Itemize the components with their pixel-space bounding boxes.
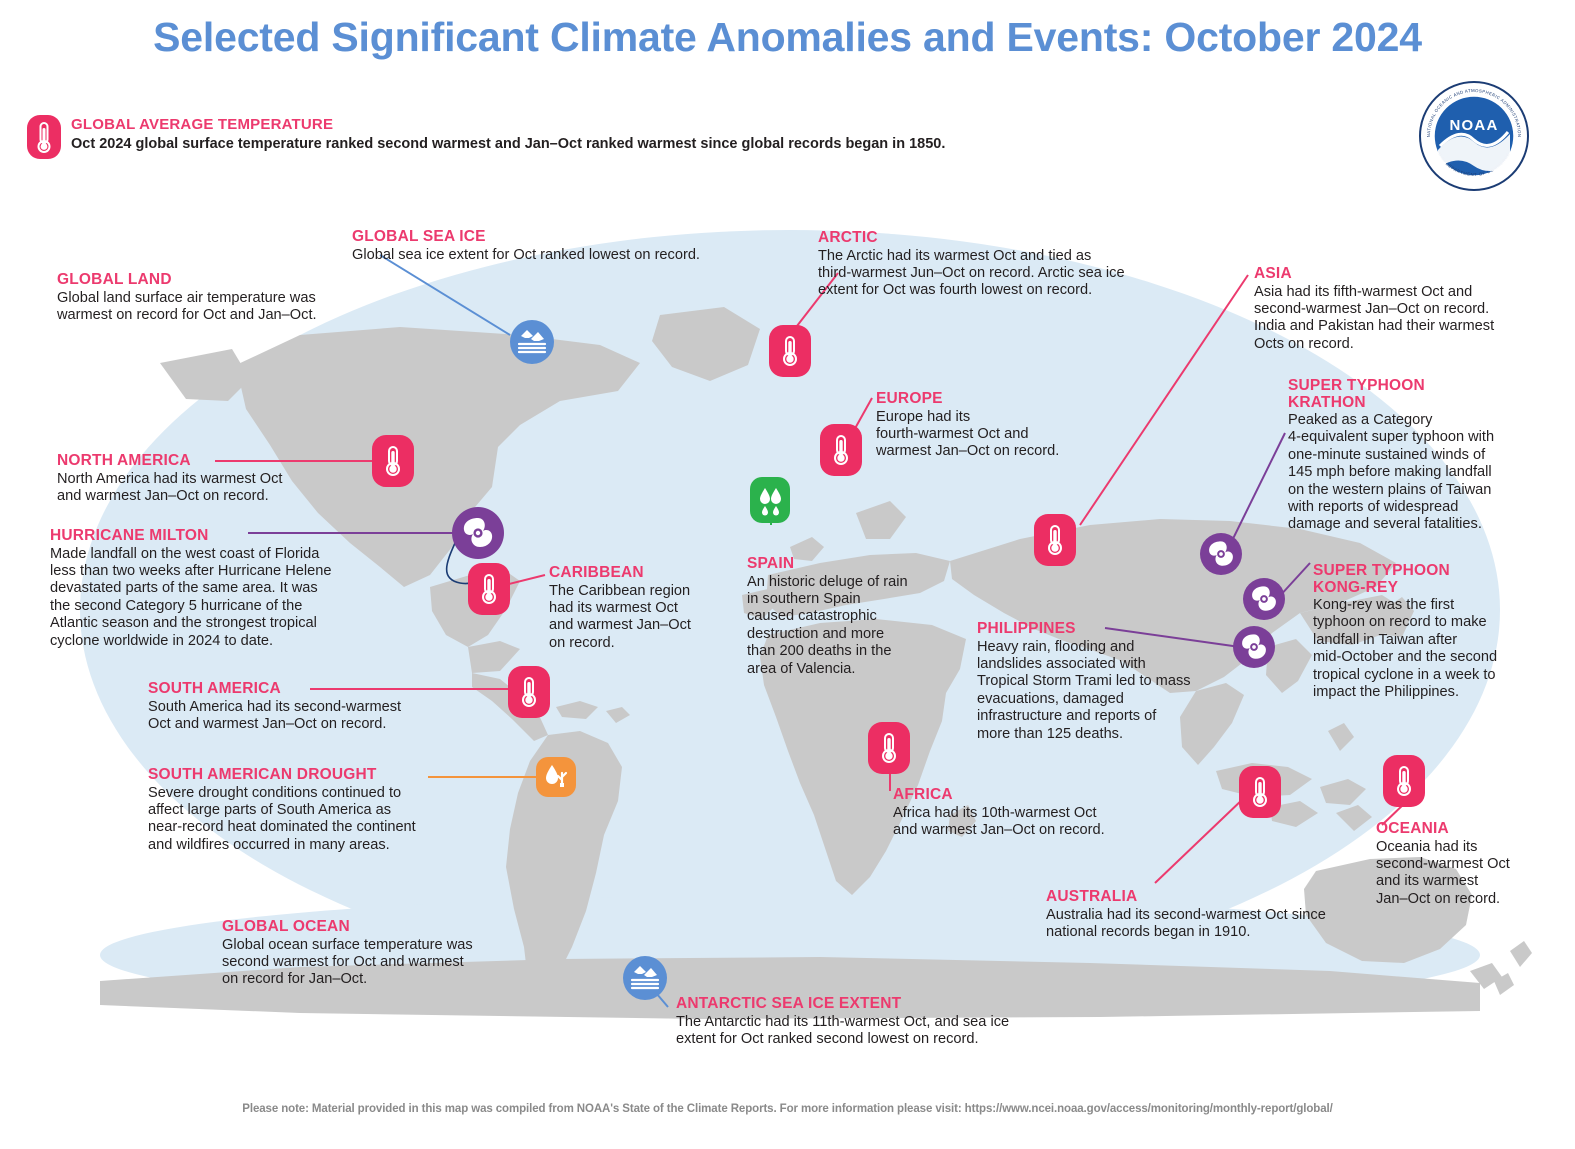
callout-heading: ASIA — [1254, 265, 1544, 283]
thermometer-icon — [777, 334, 803, 368]
callout-body: Oceania had its second-warmest Oct and i… — [1376, 839, 1556, 909]
callout-body: Peaked as a Category 4-equivalent super … — [1288, 412, 1553, 534]
callout-heading: SPAIN — [747, 555, 932, 573]
callout-heading: ARCTIC — [818, 229, 1188, 247]
callout-body: Kong-rey was the first typhoon on record… — [1313, 597, 1548, 701]
callout-heading: OCEANIA — [1376, 820, 1556, 838]
sea-ice-icon — [517, 327, 547, 357]
marker-hurricane-milton[interactable] — [452, 507, 504, 559]
callout-heading: SUPER TYPHOON KRATHON — [1288, 378, 1553, 411]
callout-body: Made landfall on the west coast of Flori… — [50, 546, 390, 650]
callout-body: The Arctic had its warmest Oct and tied … — [818, 248, 1188, 300]
thermometer-icon — [1247, 775, 1273, 809]
callout-body: Africa had its 10th-warmest Oct and warm… — [893, 805, 1183, 840]
marker-africa[interactable] — [868, 722, 910, 774]
callout-global-land: GLOBAL LAND Global land surface air temp… — [57, 271, 367, 324]
marker-north-america[interactable] — [372, 435, 414, 487]
sea-ice-icon — [630, 963, 660, 993]
page-title: Selected Significant Climate Anomalies a… — [0, 14, 1575, 61]
marker-south-american-drought[interactable] — [536, 757, 576, 797]
callout-south-america: SOUTH AMERICA South America had its seco… — [148, 680, 468, 733]
callout-body: Europe had its fourth-warmest Oct and wa… — [876, 409, 1096, 461]
marker-super-typhoon-kong-rey[interactable] — [1243, 578, 1285, 620]
banner-heading: GLOBAL AVERAGE TEMPERATURE — [71, 116, 945, 133]
marker-caribbean[interactable] — [468, 563, 510, 615]
noaa-logo: NATIONAL OCEANIC AND ATMOSPHERIC ADMINIS… — [1418, 80, 1530, 192]
callout-heading: PHILIPPINES — [977, 620, 1237, 638]
callout-africa: AFRICA Africa had its 10th-warmest Oct a… — [893, 786, 1183, 839]
marker-oceania[interactable] — [1383, 755, 1425, 807]
callout-south-american-drought: SOUTH AMERICAN DROUGHT Severe drought co… — [148, 766, 478, 854]
callout-heading: SUPER TYPHOON KONG-REY — [1313, 563, 1548, 596]
callout-arctic: ARCTIC The Arctic had its warmest Oct an… — [818, 229, 1188, 300]
marker-antarctic-sea-ice[interactable] — [623, 956, 667, 1000]
callout-australia: AUSTRALIA Australia had its second-warme… — [1046, 888, 1386, 941]
thermometer-icon — [1042, 523, 1068, 557]
callout-body: Heavy rain, flooding and landslides asso… — [977, 639, 1237, 743]
callout-heading: HURRICANE MILTON — [50, 527, 390, 545]
callout-body: Asia had its fifth-warmest Oct and secon… — [1254, 284, 1544, 354]
callout-body: South America had its second-warmest Oct… — [148, 699, 468, 734]
callout-spain: SPAIN An historic deluge of rain in sout… — [747, 555, 932, 678]
global-average-temperature-banner: GLOBAL AVERAGE TEMPERATURE Oct 2024 glob… — [27, 115, 945, 164]
callout-europe: EUROPE Europe had its fourth-warmest Oct… — [876, 390, 1096, 461]
callout-heading: AFRICA — [893, 786, 1183, 804]
callout-heading: SOUTH AMERICA — [148, 680, 468, 698]
cyclone-icon — [1238, 631, 1270, 663]
callout-body: North America had its warmest Oct and wa… — [57, 471, 357, 506]
footer-note: Please note: Material provided in this m… — [0, 1103, 1575, 1115]
marker-super-typhoon-krathon[interactable] — [1200, 533, 1242, 575]
callout-heading: CARIBBEAN — [549, 564, 729, 582]
marker-asia[interactable] — [1034, 514, 1076, 566]
callout-body: Severe drought conditions continued to a… — [148, 785, 478, 855]
callout-body: Global ocean surface temperature was sec… — [222, 937, 532, 989]
callout-philippines: PHILIPPINES Heavy rain, flooding and lan… — [977, 620, 1237, 743]
cyclone-icon — [1248, 583, 1280, 615]
callout-heading: SOUTH AMERICAN DROUGHT — [148, 766, 478, 784]
marker-australia[interactable] — [1239, 766, 1281, 818]
callout-heading: ANTARCTIC SEA ICE EXTENT — [676, 995, 1076, 1013]
marker-global-sea-ice[interactable] — [510, 320, 554, 364]
callout-body: The Antarctic had its 11th-warmest Oct, … — [676, 1014, 1076, 1049]
marker-south-america[interactable] — [508, 666, 550, 718]
thermometer-icon — [1391, 764, 1417, 798]
thermometer-icon — [516, 675, 542, 709]
marker-philippines[interactable] — [1233, 626, 1275, 668]
callout-heading: EUROPE — [876, 390, 1096, 408]
callout-oceania: OCEANIA Oceania had its second-warmest O… — [1376, 820, 1556, 908]
callout-global-sea-ice: GLOBAL SEA ICE Global sea ice extent for… — [352, 228, 772, 264]
callout-heading: NORTH AMERICA — [57, 452, 357, 470]
svg-text:NOAA: NOAA — [1450, 117, 1499, 134]
rain-icon — [756, 484, 784, 516]
callout-heading: GLOBAL SEA ICE — [352, 228, 772, 246]
marker-spain[interactable] — [750, 477, 790, 523]
thermometer-icon — [876, 731, 902, 765]
callout-heading: GLOBAL OCEAN — [222, 918, 532, 936]
callout-body: An historic deluge of rain in southern S… — [747, 574, 932, 678]
thermometer-icon — [27, 115, 61, 164]
callout-super-typhoon-krathon: SUPER TYPHOON KRATHON Peaked as a Catego… — [1288, 378, 1553, 534]
marker-europe[interactable] — [820, 424, 862, 476]
callout-super-typhoon-kong-rey: SUPER TYPHOON KONG-REY Kong-rey was the … — [1313, 563, 1548, 701]
marker-arctic[interactable] — [769, 325, 811, 377]
callout-heading: GLOBAL LAND — [57, 271, 367, 289]
cyclone-icon — [459, 514, 497, 552]
drought-icon — [542, 763, 570, 791]
banner-body: Oct 2024 global surface temperature rank… — [71, 135, 945, 153]
cyclone-icon — [1205, 538, 1237, 570]
callout-hurricane-milton: HURRICANE MILTON Made landfall on the we… — [50, 527, 390, 650]
callout-north-america: NORTH AMERICA North America had its warm… — [57, 452, 357, 505]
callout-body: The Caribbean region had its warmest Oct… — [549, 583, 729, 653]
callout-asia: ASIA Asia had its fifth-warmest Oct and … — [1254, 265, 1544, 353]
thermometer-icon — [476, 572, 502, 606]
callout-body: Australia had its second-warmest Oct sin… — [1046, 907, 1386, 942]
callout-body: Global land surface air temperature was … — [57, 290, 367, 325]
callout-antarctic-sea-ice-extent: ANTARCTIC SEA ICE EXTENT The Antarctic h… — [676, 995, 1076, 1048]
climate-anomalies-map-page: Selected Significant Climate Anomalies a… — [0, 0, 1575, 1149]
callout-body: Global sea ice extent for Oct ranked low… — [352, 247, 772, 264]
callout-heading: AUSTRALIA — [1046, 888, 1386, 906]
thermometer-icon — [380, 444, 406, 478]
callout-caribbean: CARIBBEAN The Caribbean region had its w… — [549, 564, 729, 652]
thermometer-icon — [828, 433, 854, 467]
callout-global-ocean: GLOBAL OCEAN Global ocean surface temper… — [222, 918, 532, 989]
